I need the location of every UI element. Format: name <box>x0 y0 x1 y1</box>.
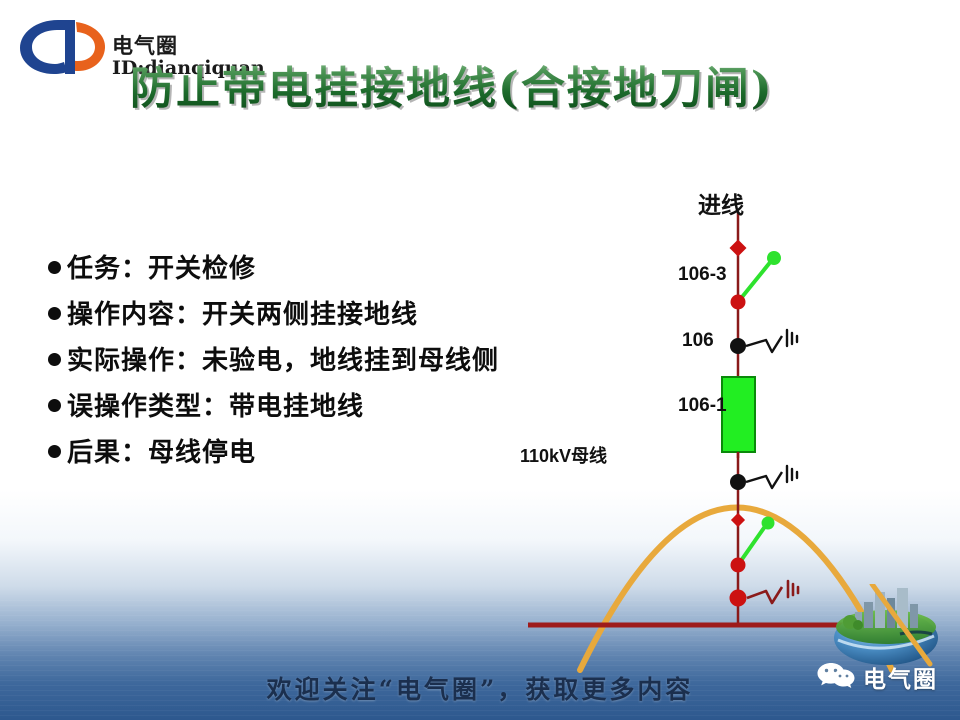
busbar-label: 110kV母线 <box>520 442 607 468</box>
disconnector-lower-label: 106-1 <box>678 395 727 417</box>
disconnector-upper-blade <box>738 260 772 302</box>
ground-clamp-lower-point <box>730 474 746 490</box>
ground-symbol-lower <box>787 466 797 482</box>
breaker-label: 106 <box>682 330 714 352</box>
ground-clamp-upper-point <box>730 338 746 354</box>
wechat-label: 电气圈 <box>863 660 938 694</box>
bullet-dot-icon <box>48 353 61 366</box>
ground-wire-upper <box>746 336 782 352</box>
bullet-dot-icon <box>48 261 61 274</box>
disconnector-lower-pivot <box>731 558 746 573</box>
list-item-text: 操作内容：开关两侧挂接地线 <box>67 294 418 331</box>
ground-symbol-upper <box>787 330 797 346</box>
disconnector-upper-pivot <box>731 295 746 310</box>
dianqiquan-logo-icon <box>14 16 110 78</box>
list-item-text: 任务：开关检修 <box>67 248 256 285</box>
disconnector-upper-blade-tip <box>767 251 781 265</box>
disconnector-lower-blade-tip <box>762 517 775 530</box>
bullet-dot-icon <box>48 445 61 458</box>
energized-ground-symbol <box>788 581 798 597</box>
disconnector-lower-top-contact <box>731 513 745 527</box>
page-title: 防止带电挂接地线(合接地刀闸) <box>130 52 850 116</box>
energized-ground-wire <box>747 587 782 603</box>
disconnector-upper-top-contact <box>730 240 747 257</box>
wechat-badge: 电气圈 <box>816 660 938 694</box>
list-item-text: 实际操作：未验电，地线挂到母线侧 <box>67 340 499 377</box>
wechat-icon <box>816 661 856 694</box>
earth-city-globe-icon <box>822 584 952 668</box>
list-item-text: 误操作类型：带电挂地线 <box>67 386 364 423</box>
incoming-line-label: 进线 <box>698 186 744 220</box>
bullet-dot-icon <box>48 399 61 412</box>
slide-canvas: 电气圈 ID:dianqiquan 防止带电挂接地线(合接地刀闸) 任务：开关检… <box>0 0 960 720</box>
bullet-dot-icon <box>48 307 61 320</box>
energized-ground-clamp-point <box>730 590 747 607</box>
disconnector-upper-label: 106-3 <box>678 264 727 286</box>
list-item-text: 后果：母线停电 <box>67 432 256 469</box>
ground-wire-lower <box>746 472 782 488</box>
